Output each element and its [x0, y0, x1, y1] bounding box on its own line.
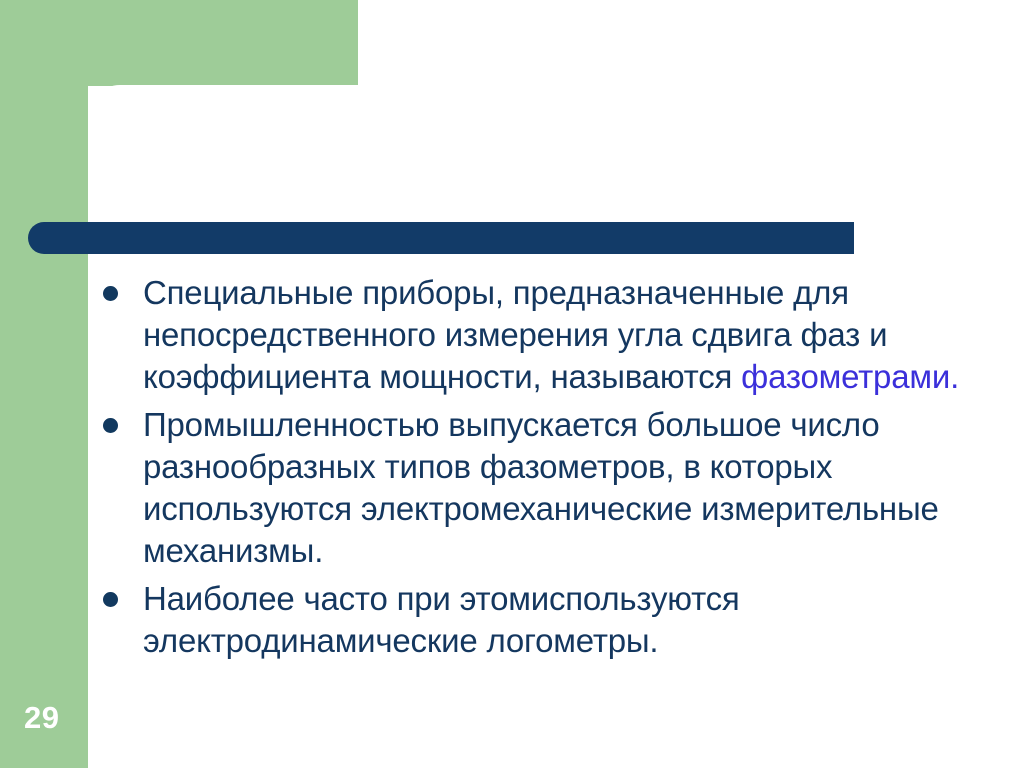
bullet-dot-icon [103, 286, 118, 301]
bullet-text-main: Промышленностью выпускается большое числ… [143, 406, 939, 569]
bullet-list: Специальные приборы, предназначенные для… [103, 272, 1013, 668]
green-left-band-decoration [0, 0, 88, 768]
bullet-dot-icon [103, 592, 118, 607]
list-item: Промышленностью выпускается большое числ… [103, 404, 1013, 572]
bullet-dot-icon [103, 418, 118, 433]
navy-title-bar [28, 222, 854, 254]
list-item: Наиболее часто при этомиспользуются элек… [103, 578, 1013, 662]
bullet-text: Специальные приборы, предназначенные для… [143, 272, 1013, 398]
bullet-text-main: Наиболее часто при этомиспользуются элек… [143, 580, 740, 659]
slide-canvas: Специальные приборы, предназначенные для… [0, 0, 1024, 768]
bullet-accent-word: фазометрами. [741, 358, 959, 395]
bullet-text: Наиболее часто при этомиспользуются элек… [143, 578, 1013, 662]
bullet-text: Промышленностью выпускается большое числ… [143, 404, 1013, 572]
page-number: 29 [24, 702, 59, 733]
green-top-block-decoration [0, 0, 358, 86]
list-item: Специальные приборы, предназначенные для… [103, 272, 1013, 398]
